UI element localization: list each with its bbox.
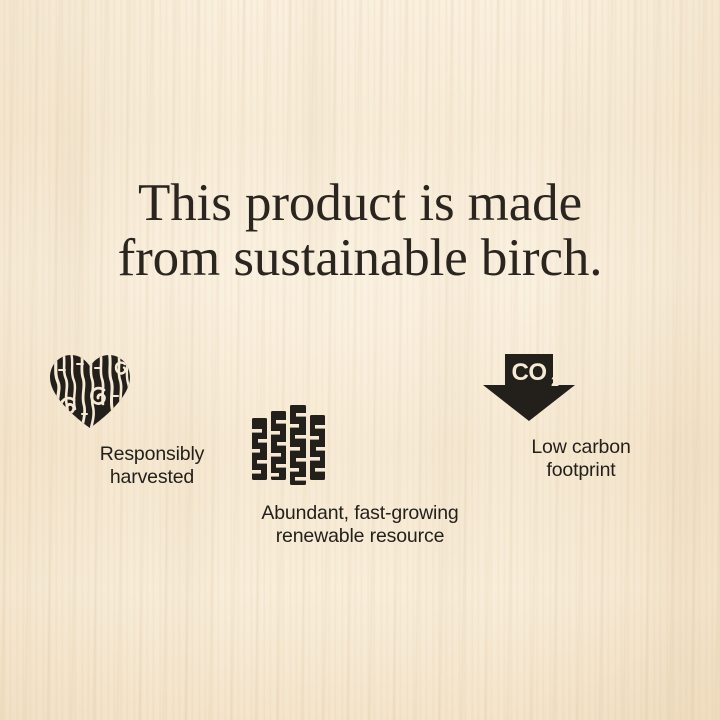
feature-responsibly-harvested: Responsibly harvested <box>46 352 258 489</box>
co2-down-arrow-icon: CO 2 <box>480 354 682 422</box>
co2-icon-label: CO <box>512 359 547 386</box>
stacked-logs-icon <box>250 405 470 485</box>
feature-caption: Low carbon footprint <box>480 436 682 482</box>
co2-icon-subscript: 2 <box>551 373 559 389</box>
feature-caption: Abundant, fast-growing renewable resourc… <box>250 502 470 548</box>
page-title: This product is made from sustainable bi… <box>0 176 720 285</box>
feature-renewable-resource: Abundant, fast-growing renewable resourc… <box>250 405 470 548</box>
feature-caption: Responsibly harvested <box>46 443 258 489</box>
wood-grain-heart-icon <box>46 352 258 430</box>
feature-row: Responsibly harvested <box>0 340 720 580</box>
birch-sustainability-poster: This product is made from sustainable bi… <box>0 0 720 720</box>
feature-low-carbon-footprint: CO 2 Low carbon footprint <box>480 354 682 482</box>
